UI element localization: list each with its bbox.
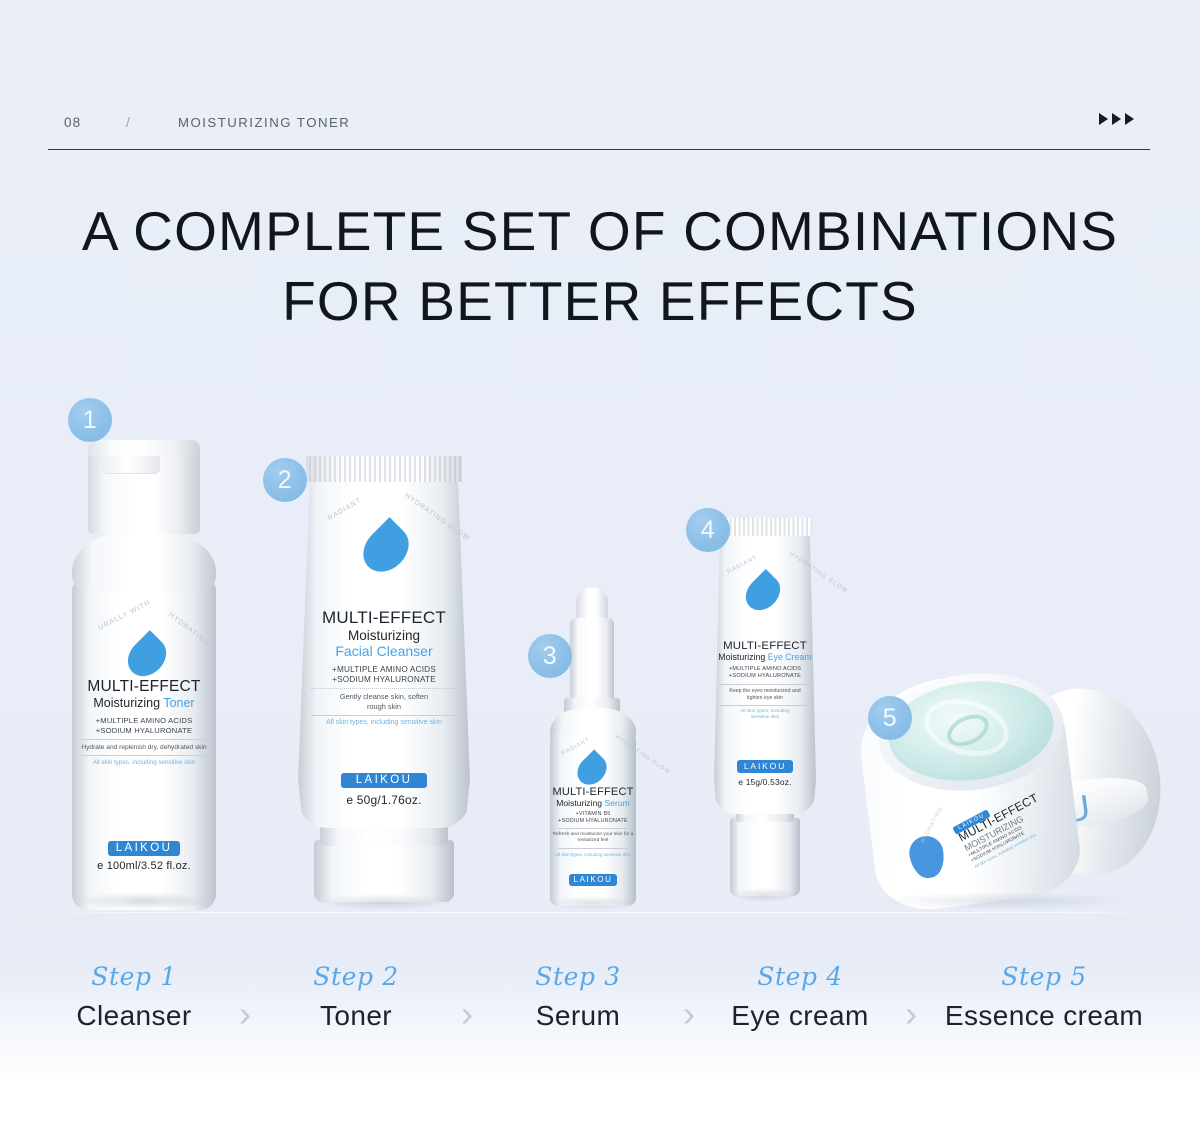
toner-type-prefix: Moisturizing [93, 696, 160, 710]
step-label-5: Step 5 [929, 960, 1159, 994]
chevron-right-icon-1: › [227, 960, 263, 1060]
serum-divider-1 [558, 828, 628, 829]
toner-net-weight: e 100ml/3.52 fl.oz. [76, 860, 212, 872]
header-section-title: MOISTURIZING TONER [178, 115, 350, 130]
eyecream-type-accent: Eye Cream [768, 652, 812, 662]
cleanser-crimp-sheen [306, 456, 462, 482]
toner-base-shadow [76, 892, 212, 910]
eyecream-description-2: tighten eye skin [712, 695, 818, 702]
step-item-5[interactable]: Step 5 Essence cream [929, 960, 1159, 1038]
headline-line-1: A COMPLETE SET OF COMBINATIONS [0, 196, 1200, 266]
step-badge-3: 3 [528, 634, 572, 678]
cleanser-type-prefix: Moisturizing [302, 628, 466, 643]
step-badge-5: 5 [868, 696, 912, 740]
step-item-4[interactable]: Step 4 Eye cream [707, 960, 893, 1038]
product-eye-cream-tube[interactable]: RADIANT HYDRATING GLOW MULTI-EFFECT Mois… [700, 518, 830, 918]
serum-label: MULTI-EFFECT Moisturizing Serum +VITAMIN… [552, 786, 634, 886]
step-label-2: Step 2 [263, 960, 449, 994]
step-badge-2: 2 [263, 458, 307, 502]
product-facial-cleanser-tube[interactable]: RADIANT HYDRATING GLOW MULTI-EFFECT Mois… [276, 456, 490, 926]
eyecream-ingredient-2: +SODIUM HYALURONATE [712, 673, 818, 680]
toner-cap-top [88, 440, 200, 456]
product-toner-bottle[interactable]: URALLY WITH HYDRATING MULTI-EFFECT Moist… [62, 440, 232, 922]
toner-ingredient-2: +SODIUM HYALURONATE [76, 726, 212, 736]
right-arrow-icon-2 [1112, 113, 1121, 125]
step-label-3: Step 3 [485, 960, 671, 994]
cleanser-brand-line: MULTI-EFFECT [302, 608, 466, 628]
toner-brand-logo: LAIKOU [108, 841, 180, 856]
step-item-2[interactable]: Step 2 Toner [263, 960, 449, 1038]
eyecream-crimp-seal [718, 518, 812, 536]
serum-skin-types: All skin types, including sensitive skin [552, 852, 634, 858]
cleanser-divider-2 [311, 715, 457, 716]
toner-bottle-shoulder [72, 528, 216, 590]
step-product-4: Eye cream [707, 994, 893, 1038]
serum-dropper-cap [570, 618, 614, 706]
chevron-right-icon-2: › [449, 960, 485, 1060]
serum-type-prefix: Moisturizing [556, 798, 602, 808]
serum-ingredient-1: +VITAMIN B5 [552, 811, 634, 818]
toner-type-line: Moisturizing Toner [76, 696, 212, 710]
product-set-page: 08 / MOISTURIZING TONER A COMPLETE SET O… [0, 0, 1200, 1127]
serum-brand-logo: LAIKOU [569, 874, 617, 886]
toner-skin-types: All skin types, including sensitive skin [76, 759, 212, 767]
serum-ingredient-2: +SODIUM HYALURONATE [552, 818, 634, 825]
cleanser-brand-logo: LAIKOU [341, 773, 427, 788]
cleanser-type-accent: Facial Cleanser [302, 643, 466, 659]
cleanser-skin-types: All skin types, including sensitive skin [302, 719, 466, 727]
eyecream-brand-line: MULTI-EFFECT [712, 640, 818, 652]
serum-type-accent: Serum [604, 798, 629, 808]
eyecream-net-weight: e 15g/0.53oz. [712, 777, 818, 787]
step-item-3[interactable]: Step 3 Serum [485, 960, 671, 1038]
toner-description: Hydrate and replenish dry, dehydrated sk… [76, 743, 212, 752]
product-essence-cream-jar[interactable]: U HYDRATING LAIKOU MULTI-EFFECT MOISTURI… [860, 660, 1160, 922]
chevron-right-icon-3: › [671, 960, 707, 1060]
eyecream-base-shadow [730, 888, 800, 902]
routine-steps-row: Step 1 Cleanser › Step 2 Toner › Step 3 … [0, 960, 1200, 1070]
step-label-4: Step 4 [707, 960, 893, 994]
step-label-1: Step 1 [41, 960, 227, 994]
step-item-1[interactable]: Step 1 Cleanser [41, 960, 227, 1038]
eyecream-ingredient-1: +MULTIPLE AMINO ACIDS [712, 666, 818, 673]
step-badge-1: 1 [68, 398, 112, 442]
headline-line-2: FOR BETTER EFFECTS [0, 266, 1200, 336]
page-header: 08 / MOISTURIZING TONER [48, 104, 1150, 150]
eyecream-divider-2 [719, 705, 811, 706]
toner-brand-line: MULTI-EFFECT [76, 678, 212, 696]
essence-base-shadow [880, 892, 1130, 910]
serum-type-line: Moisturizing Serum [552, 798, 634, 808]
cleanser-base-shadow [316, 894, 452, 910]
serum-description-2: revitalized feel [552, 838, 634, 844]
eyecream-skin-types-2: sensitive skin [712, 715, 818, 721]
cleanser-description-1: Gently cleanse skin, soften [302, 692, 466, 702]
step-product-5: Essence cream [929, 994, 1159, 1038]
eyecream-brand-logo: LAIKOU [737, 760, 793, 773]
serum-base-shadow [552, 896, 634, 910]
eyecream-divider-1 [719, 684, 811, 685]
header-page-number: 08 [64, 115, 81, 130]
eyecream-type-prefix: Moisturizing [718, 652, 765, 662]
right-arrow-icon-1 [1099, 113, 1108, 125]
eyecream-description-1: Keep the eyes moisturized and [712, 688, 818, 695]
eyecream-cap [730, 818, 800, 896]
header-separator: / [126, 114, 130, 130]
serum-divider-2 [558, 848, 628, 849]
step-product-1: Cleanser [41, 994, 227, 1038]
serum-brand-line: MULTI-EFFECT [552, 786, 634, 798]
eyecream-type-line: Moisturizing Eye Cream [712, 652, 818, 662]
cleanser-cap [314, 840, 454, 902]
toner-divider-2 [82, 755, 206, 756]
toner-type-accent: Toner [163, 696, 194, 710]
eyecream-label: MULTI-EFFECT Moisturizing Eye Cream +MUL… [712, 640, 818, 787]
triple-right-arrow-icon [1099, 113, 1134, 125]
toner-ingredient-1: +MULTIPLE AMINO ACIDS [76, 716, 212, 726]
right-arrow-icon-3 [1125, 113, 1134, 125]
cleanser-ingredient-2: +SODIUM HYALURONATE [302, 675, 466, 685]
chevron-right-icon-4: › [893, 960, 929, 1060]
cleanser-net-weight: e 50g/1.76oz. [302, 793, 466, 807]
cleanser-label: MULTI-EFFECT Moisturizing Facial Cleanse… [302, 608, 466, 807]
toner-divider-1 [82, 739, 206, 740]
cleanser-description-2: rough skin [302, 702, 466, 712]
step-product-2: Toner [263, 994, 449, 1038]
step-product-3: Serum [485, 994, 671, 1038]
step-badge-4: 4 [686, 508, 730, 552]
toner-label: MULTI-EFFECT Moisturizing Toner +MULTIPL… [76, 678, 212, 872]
cleanser-ingredient-1: +MULTIPLE AMINO ACIDS [302, 665, 466, 675]
page-title: A COMPLETE SET OF COMBINATIONS FOR BETTE… [0, 196, 1200, 336]
cleanser-divider-1 [311, 688, 457, 689]
